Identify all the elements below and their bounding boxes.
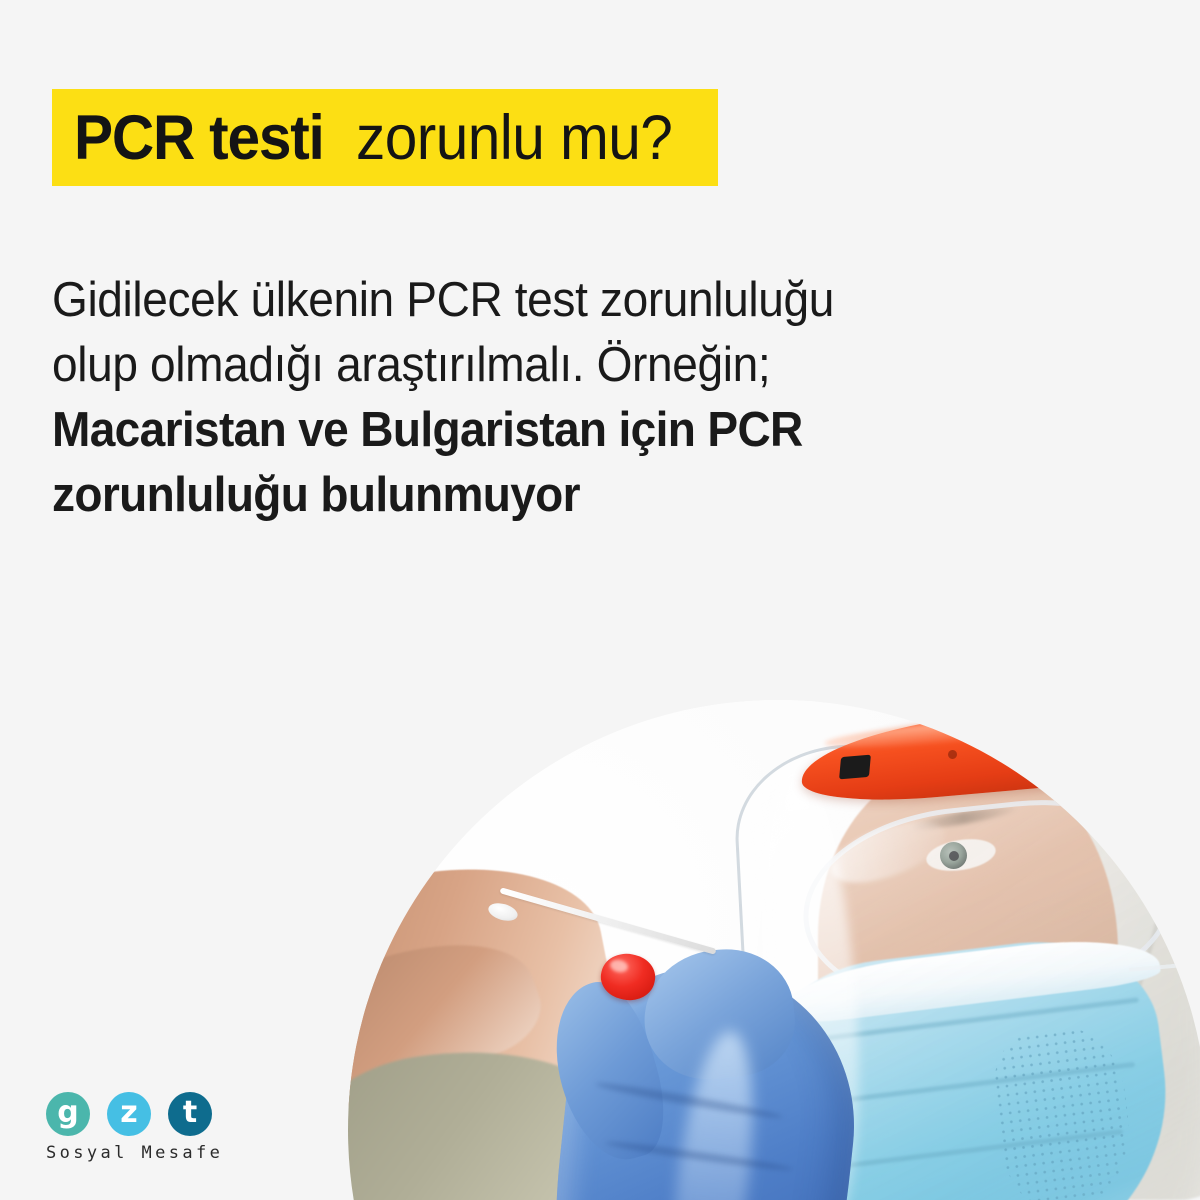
logo-circle-g-icon: g: [46, 1092, 90, 1136]
pcr-test-photo: [348, 700, 1200, 1200]
body-copy: Gidilecek ülkenin PCR test zorunluluğu o…: [52, 268, 1052, 528]
logo-circle-t-icon: t: [168, 1092, 212, 1136]
logo-circle-z-icon: z: [107, 1092, 151, 1136]
body-line-2: olup olmadığı araştırılmalı. Örneğin;: [52, 333, 992, 398]
page-title-strong: PCR testi: [74, 102, 324, 174]
page-title: PCR testi zorunlu mu?: [52, 89, 718, 186]
headband-clip: [839, 755, 871, 780]
infographic-card: PCR testi zorunlu mu? Gidilecek ülkenin …: [0, 0, 1200, 1200]
body-line-4: zorunluluğu bulunmuyor: [52, 463, 992, 528]
gzt-logo: g z t Sosyal Mesafe: [46, 1092, 246, 1163]
page-title-light: zorunlu mu?: [356, 102, 672, 174]
logo-letter-circles: g z t: [46, 1092, 246, 1136]
photo-background: [348, 700, 1200, 1200]
logo-caption: Sosyal Mesafe: [46, 1143, 246, 1163]
body-line-3: Macaristan ve Bulgaristan için PCR: [52, 398, 992, 463]
body-line-1: Gidilecek ülkenin PCR test zorunluluğu: [52, 268, 992, 333]
